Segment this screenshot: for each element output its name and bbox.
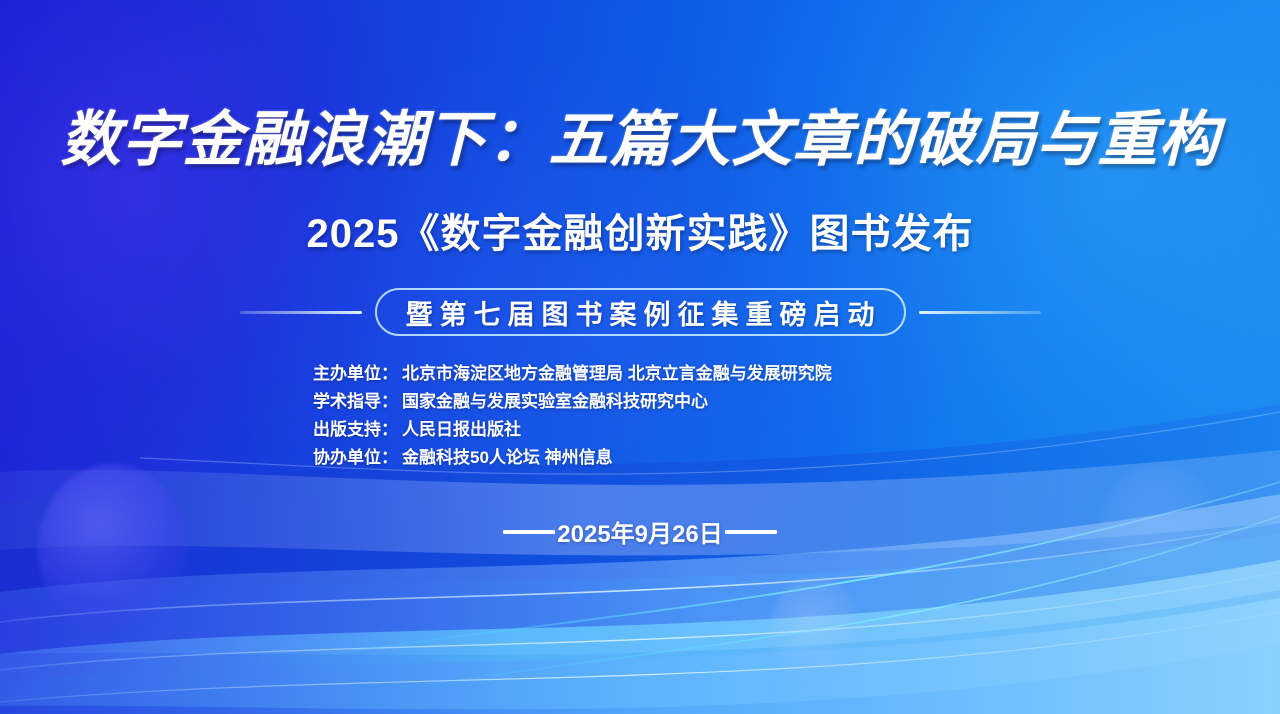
date-dash-right [725,530,777,534]
info-line: 主办单位：北京市海淀区地方金融管理局 北京立言金融与发展研究院 [313,360,832,388]
poster-canvas: 数字金融浪潮下：五篇大文章的破局与重构 2025《数字金融创新实践》图书发布 暨… [0,0,1280,714]
event-date: 2025年9月26日 [555,514,724,549]
info-label: 主办单位： [313,364,398,383]
organizer-info-block: 主办单位：北京市海淀区地方金融管理局 北京立言金融与发展研究院 学术指导：国家金… [313,360,832,472]
info-value: 金融科技50人论坛 神州信息 [402,448,613,467]
date-dash-left [503,530,555,534]
banner-pill-label: 暨第七届图书案例征集重磅启动 [399,293,882,332]
info-line: 协办单位：金融科技50人论坛 神州信息 [313,444,832,472]
info-value: 国家金融与发展实验室金融科技研究中心 [402,392,708,411]
info-line: 出版支持：人民日报出版社 [313,416,832,444]
info-value: 北京市海淀区地方金融管理局 北京立言金融与发展研究院 [402,364,832,383]
banner-rule-left [240,311,362,314]
main-title: 数字金融浪潮下：五篇大文章的破局与重构 [0,104,1280,176]
banner-row: 暨第七届图书案例征集重磅启动 [0,287,1280,337]
banner-pill: 暨第七届图书案例征集重磅启动 [375,288,906,336]
date-row: 2025年9月26日 [0,514,1280,549]
info-value: 人民日报出版社 [402,420,521,439]
info-label: 协办单位： [313,448,398,467]
info-label: 学术指导： [313,392,398,411]
banner-rule-right [919,311,1041,314]
sub-title: 2025《数字金融创新实践》图书发布 [0,208,1280,260]
poster-content: 数字金融浪潮下：五篇大文章的破局与重构 2025《数字金融创新实践》图书发布 暨… [0,0,1280,714]
info-label: 出版支持： [313,420,398,439]
info-line: 学术指导：国家金融与发展实验室金融科技研究中心 [313,388,832,416]
